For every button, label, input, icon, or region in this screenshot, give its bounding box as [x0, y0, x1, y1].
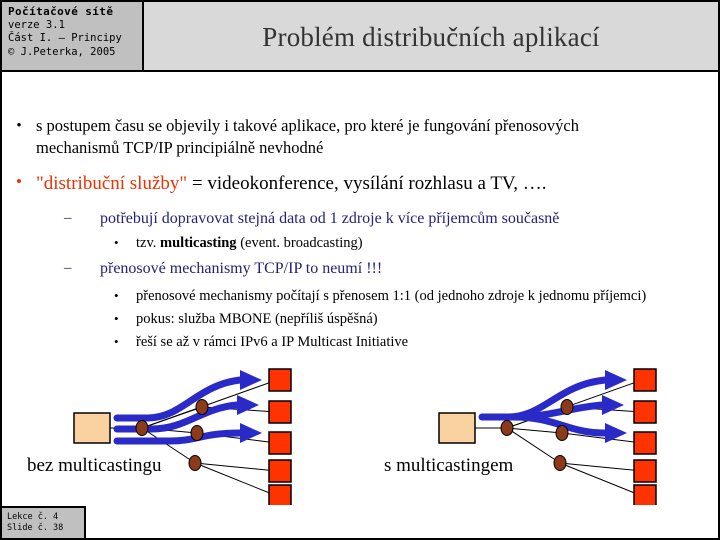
bullet-level3: • pokus: služba MBONE (nepříliš úspěšná) [2, 309, 718, 329]
bullet-marker: • [114, 233, 136, 253]
bullet-marker: • [114, 286, 136, 306]
receiver-nodes [269, 369, 291, 505]
bullet-marker: • [114, 332, 136, 352]
diagram-with-multicast [427, 360, 677, 505]
bullet-text: pokus: služba MBONE (nepříliš úspěšná) [136, 309, 378, 329]
stream-arrowheads [237, 370, 262, 443]
bullet-level3: • řeší se až v rámci IPv6 a IP Multicast… [2, 332, 718, 352]
course-copyright: © J.Peterka, 2005 [8, 46, 142, 60]
bullet-text: přenosové mechanismy počítají s přenosem… [136, 286, 646, 306]
bullet-level1: • s postupem času se objevily i takové a… [2, 115, 718, 159]
bullet-text: "distribuční služby" = videokonference, … [36, 171, 546, 197]
bullet-level2: – přenosové mechanismy TCP/IP to neumí !… [2, 257, 718, 280]
multicasting-prefix: tzv. [136, 235, 160, 251]
bullet-marker: • [2, 171, 36, 197]
multicast-streams [482, 380, 605, 433]
bullet-marker: – [64, 257, 100, 280]
course-identity-box: Počítačové sítě verze 3.1 Část I. – Prin… [2, 2, 144, 72]
bullet-marker: – [64, 207, 100, 230]
stream-arrowheads [602, 370, 627, 443]
bullet-marker: • [2, 115, 36, 159]
multicasting-term: multicasting [160, 235, 237, 251]
footer-slide-counter: Lekce č. 4 Slide č. 38 [2, 506, 86, 538]
course-part: Část I. – Principy [8, 32, 142, 46]
source-node [74, 413, 110, 443]
stream-3 [117, 433, 240, 441]
bullet-text: přenosové mechanismy TCP/IP to neumí !!! [100, 257, 382, 280]
bullet-text: s postupem času se objevily i takové apl… [36, 115, 636, 159]
distributed-services-rest: = videokonference, vysílání rozhlasu a T… [187, 173, 546, 194]
slide-canvas: Počítačové sítě verze 3.1 Část I. – Prin… [0, 0, 720, 540]
page-title: Problém distribučních aplikací [144, 2, 718, 72]
bullet-text: řeší se až v rámci IPv6 a IP Multicast I… [136, 332, 408, 352]
course-version: verze 3.1 [8, 19, 142, 33]
bullet-text: tzv. multicasting (event. broadcasting) [136, 233, 363, 253]
receiver-nodes [634, 369, 656, 505]
bullet-level3: • tzv. multicasting (event. broadcasting… [2, 233, 718, 253]
bullet-level1-highlight: • "distribuční služby" = videokonference… [2, 171, 718, 197]
unicast-streams [117, 380, 240, 441]
slide-content: • s postupem času se objevily i takové a… [2, 72, 718, 352]
distributed-services-term: "distribuční služby" [36, 173, 187, 194]
bullet-text: potřebují dopravovat stejná data od 1 zd… [100, 207, 559, 230]
bullet-level3: • přenosové mechanismy počítají s přenos… [2, 286, 718, 306]
multicasting-suffix: (event. broadcasting) [237, 235, 363, 251]
diagram-without-multicast [62, 360, 312, 505]
course-title: Počítačové sítě [8, 5, 142, 19]
bullet-marker: • [114, 309, 136, 329]
bullet-level2: – potřebují dopravovat stejná data od 1 … [2, 207, 718, 230]
footer-lesson: Lekce č. 4 [7, 512, 84, 523]
stream-1 [117, 380, 240, 418]
caption-with-multicast: s multicastingem [384, 455, 513, 477]
source-node [439, 413, 475, 443]
caption-without-multicast: bez multicastingu [27, 455, 162, 477]
footer-slide: Slide č. 38 [7, 523, 84, 534]
